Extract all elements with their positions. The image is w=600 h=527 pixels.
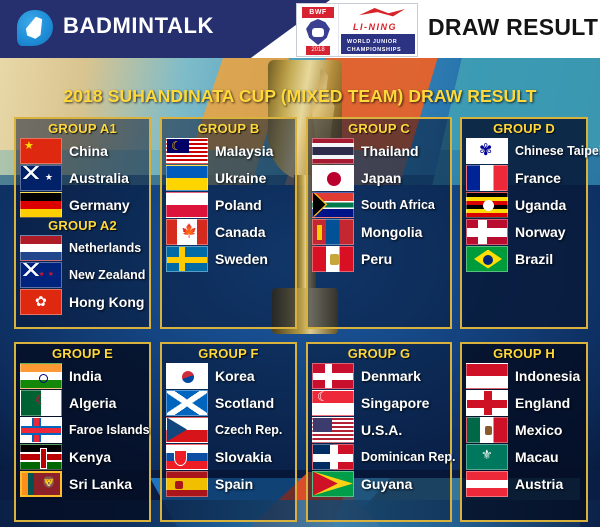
flag-icon [20, 165, 62, 191]
group-box-f: GROUP FKoreaScotlandCzech Rep.SlovakiaSp… [160, 342, 297, 522]
brand-label: BADMINTALK [63, 13, 214, 39]
team-name: Guyana [361, 476, 412, 492]
team-name: Poland [215, 197, 262, 213]
team-name: Korea [215, 368, 255, 384]
team-name: Sweden [215, 251, 268, 267]
team-row: U.S.A. [312, 416, 446, 443]
team-row: Mexico [466, 416, 582, 443]
flag-icon [466, 444, 508, 470]
team-row: Macau [466, 443, 582, 470]
flag-icon [166, 246, 208, 272]
lining-sponsor-block: LI-NING [345, 8, 411, 34]
team-name: India [69, 368, 102, 384]
mascot-icon [305, 19, 331, 45]
event-logo: BWF 2018 LI-NING WORLD JUNIOR CHAMPIONSH… [296, 3, 418, 57]
team-row: France [466, 164, 582, 191]
team-name: New Zealand [69, 268, 145, 282]
group-box-e: GROUP EIndiaAlgeriaFaroe IslandsKenyaSri… [14, 342, 151, 522]
group-title-a-2: GROUP A2 [20, 218, 145, 234]
team-row: Scotland [166, 389, 291, 416]
team-row: Guyana [312, 470, 446, 497]
team-row: Japan [312, 164, 446, 191]
team-row: Denmark [312, 362, 446, 389]
team-name: England [515, 395, 570, 411]
team-name: Australia [69, 170, 129, 186]
bwf-label: BWF [302, 7, 334, 18]
team-row: Mongolia [312, 218, 446, 245]
team-row: Malaysia [166, 137, 291, 164]
team-name: Indonesia [515, 368, 580, 384]
team-row: Indonesia [466, 362, 582, 389]
team-row: Peru [312, 245, 446, 272]
flag-icon [20, 192, 62, 218]
flag-icon [312, 219, 354, 245]
event-name-band: WORLD JUNIOR CHAMPIONSHIPS [341, 34, 415, 54]
team-row: Ukraine [166, 164, 291, 191]
team-name: Sri Lanka [69, 476, 132, 492]
team-row: Thailand [312, 137, 446, 164]
group-box-d: GROUP DChinese TaipeiFranceUgandaNorwayB… [460, 117, 588, 329]
team-row: Korea [166, 362, 291, 389]
flag-icon [312, 246, 354, 272]
group-title-f: GROUP F [166, 346, 291, 362]
flag-icon [312, 363, 354, 389]
team-name: South Africa [361, 198, 435, 212]
team-row: Germany [20, 191, 145, 218]
team-name: Canada [215, 224, 266, 240]
event-year-label: 2018 [306, 46, 330, 55]
flag-icon [466, 471, 508, 497]
flag-icon [166, 417, 208, 443]
flag-icon [20, 289, 62, 315]
team-row: Chinese Taipei [466, 137, 582, 164]
flag-icon [466, 363, 508, 389]
event-name-line1: WORLD JUNIOR [347, 38, 415, 46]
flag-icon [312, 390, 354, 416]
team-name: Scotland [215, 395, 274, 411]
team-name: Mexico [515, 422, 562, 438]
team-row: China [20, 137, 145, 164]
flag-icon [466, 138, 508, 164]
flag-icon [166, 138, 208, 164]
team-name: Brazil [515, 251, 553, 267]
flag-icon [20, 417, 62, 443]
group-title-h: GROUP H [466, 346, 582, 362]
team-name: Thailand [361, 143, 419, 159]
group-box-a: GROUP A1ChinaAustraliaGermanyGROUP A2Net… [14, 117, 151, 329]
flag-icon [166, 219, 208, 245]
group-title-b: GROUP B [166, 121, 291, 137]
event-logo-panel: LI-NING WORLD JUNIOR CHAMPIONSHIPS [339, 4, 417, 56]
team-name: Hong Kong [69, 294, 144, 310]
team-name: Singapore [361, 395, 429, 411]
team-name: Netherlands [69, 241, 141, 255]
team-name: Mongolia [361, 224, 422, 240]
flag-icon [312, 417, 354, 443]
flag-icon [466, 165, 508, 191]
flag-icon [312, 444, 354, 470]
draw-result-label: DRAW RESULT [428, 14, 598, 41]
team-name: Austria [515, 476, 563, 492]
flag-icon [20, 390, 62, 416]
team-row: Slovakia [166, 443, 291, 470]
group-title-g: GROUP G [312, 346, 446, 362]
team-row: Kenya [20, 443, 145, 470]
team-name: Slovakia [215, 449, 272, 465]
flag-icon [166, 444, 208, 470]
flag-icon [466, 390, 508, 416]
lining-label: LI-NING [353, 22, 397, 32]
team-row: Poland [166, 191, 291, 218]
flag-icon [312, 138, 354, 164]
team-name: Japan [361, 170, 401, 186]
team-row: Spain [166, 470, 291, 497]
team-row: Hong Kong [20, 288, 145, 315]
team-row: Sri Lanka [20, 470, 145, 497]
team-name: Macau [515, 449, 559, 465]
team-name: Peru [361, 251, 392, 267]
team-row: Sweden [166, 245, 291, 272]
draw-result-poster: BADMINTALK BWF 2018 LI-NING WORLD JUNIOR… [0, 0, 600, 527]
team-name: Spain [215, 476, 253, 492]
team-row: Uganda [466, 191, 582, 218]
team-row: Canada [166, 218, 291, 245]
team-name: Germany [69, 197, 130, 213]
team-name: Chinese Taipei [515, 144, 600, 158]
flag-icon [466, 246, 508, 272]
team-name: Kenya [69, 449, 111, 465]
team-row: England [466, 389, 582, 416]
group-box-g: GROUP GDenmarkSingaporeU.S.A.Dominican R… [306, 342, 452, 522]
team-name: Denmark [361, 368, 421, 384]
flag-icon [20, 363, 62, 389]
team-name: Malaysia [215, 143, 273, 159]
header-bar: BADMINTALK BWF 2018 LI-NING WORLD JUNIOR… [0, 0, 600, 58]
team-name: Algeria [69, 395, 116, 411]
team-name: Ukraine [215, 170, 266, 186]
flag-icon [20, 138, 62, 164]
team-name: France [515, 170, 561, 186]
flag-icon [466, 219, 508, 245]
flag-icon [312, 192, 354, 218]
team-row: Austria [466, 470, 582, 497]
flag-icon [166, 363, 208, 389]
flag-icon [312, 165, 354, 191]
team-name: Dominican Rep. [361, 450, 455, 464]
team-name: Uganda [515, 197, 566, 213]
team-name: Norway [515, 224, 566, 240]
event-logo-badge: BWF 2018 [297, 4, 339, 56]
event-name-line2: CHAMPIONSHIPS [347, 46, 415, 54]
group-title-c: GROUP C [312, 121, 446, 137]
group-box-c: GROUP CThailandJapanSouth AfricaMongolia… [306, 117, 452, 329]
team-row: Czech Rep. [166, 416, 291, 443]
flag-icon [166, 192, 208, 218]
team-row: Norway [466, 218, 582, 245]
group-box-h: GROUP HIndonesiaEnglandMexicoMacauAustri… [460, 342, 588, 522]
flag-icon [166, 165, 208, 191]
lining-logo-icon [359, 8, 405, 20]
team-row: Brazil [466, 245, 582, 272]
flag-icon [20, 262, 62, 288]
flag-icon [20, 235, 62, 261]
team-row: Faroe Islands [20, 416, 145, 443]
team-name: Czech Rep. [215, 423, 282, 437]
team-row: New Zealand [20, 261, 145, 288]
flag-icon [466, 192, 508, 218]
page-title: 2018 SUHANDINATA CUP (MIXED TEAM) DRAW R… [0, 86, 600, 107]
team-name: Faroe Islands [69, 423, 150, 437]
team-row: Australia [20, 164, 145, 191]
group-title-e: GROUP E [20, 346, 145, 362]
team-name: U.S.A. [361, 422, 402, 438]
team-row: Netherlands [20, 234, 145, 261]
group-title-a-1: GROUP A1 [20, 121, 145, 137]
flag-icon [166, 390, 208, 416]
flag-icon [20, 444, 62, 470]
flag-icon [466, 417, 508, 443]
team-row: India [20, 362, 145, 389]
team-row: Singapore [312, 389, 446, 416]
flag-icon [20, 471, 62, 497]
team-row: South Africa [312, 191, 446, 218]
team-row: Dominican Rep. [312, 443, 446, 470]
flag-icon [312, 471, 354, 497]
group-title-d: GROUP D [466, 121, 582, 137]
group-box-b: GROUP BMalaysiaUkrainePolandCanadaSweden [160, 117, 297, 329]
flag-icon [166, 471, 208, 497]
team-name: China [69, 143, 108, 159]
team-row: Algeria [20, 389, 145, 416]
